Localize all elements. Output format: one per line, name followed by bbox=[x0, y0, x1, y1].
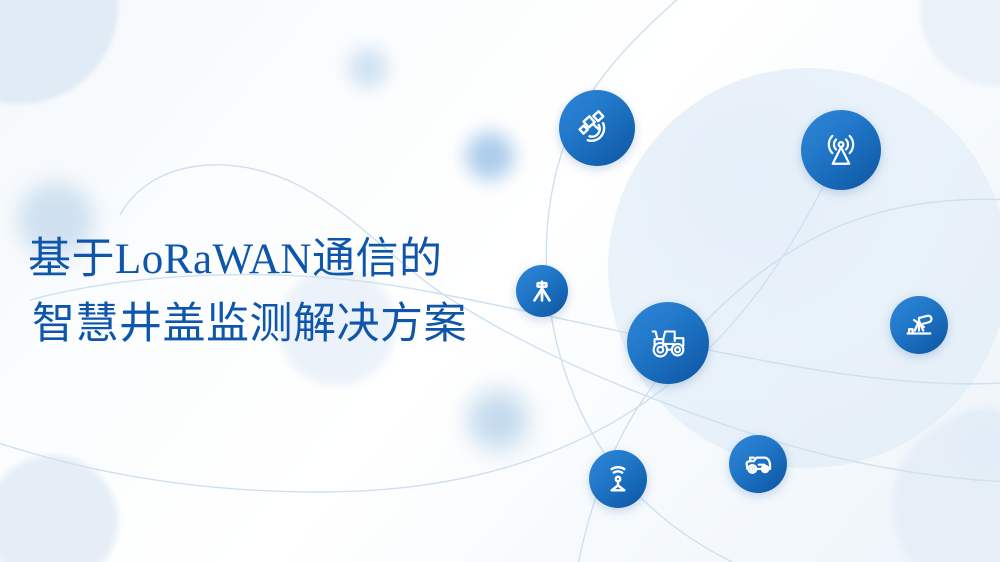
slide-canvas: 基于LoRaWAN通信的 智慧井盖监测解决方案 bbox=[0, 0, 1000, 562]
background-dot-a bbox=[348, 48, 388, 88]
node-mower[interactable] bbox=[729, 435, 787, 493]
title-line-primary: 基于LoRaWAN通信的 bbox=[28, 228, 548, 292]
node-survey-tripod[interactable] bbox=[516, 265, 568, 317]
tractor-icon bbox=[645, 320, 691, 366]
title-line-secondary: 智慧井盖监测解决方案 bbox=[28, 292, 548, 356]
satellite-signal-icon bbox=[576, 107, 618, 149]
background-blob-top-left bbox=[0, 0, 118, 104]
robot-mower-icon bbox=[741, 447, 775, 481]
oil-pumpjack-icon bbox=[902, 308, 936, 342]
node-ground-sensor[interactable] bbox=[589, 450, 647, 508]
node-antenna-tower[interactable] bbox=[801, 110, 881, 190]
background-blob-top-right bbox=[920, 0, 1000, 86]
slide-title: 基于LoRaWAN通信的 智慧井盖监测解决方案 bbox=[28, 228, 548, 356]
background-blob-bottom-right bbox=[892, 412, 1000, 562]
background-blob-bottom-left bbox=[0, 455, 118, 562]
background-dot-c bbox=[466, 132, 514, 180]
wireless-sensor-icon bbox=[601, 462, 635, 496]
node-oil-pump[interactable] bbox=[890, 296, 948, 354]
node-satellite[interactable] bbox=[559, 90, 635, 166]
background-dot-e bbox=[956, 420, 1000, 474]
translucent-globe bbox=[608, 68, 1000, 468]
survey-tripod-icon bbox=[527, 276, 557, 306]
node-tractor[interactable] bbox=[627, 302, 709, 384]
radio-tower-icon bbox=[819, 128, 863, 172]
background-dot-d bbox=[468, 390, 528, 450]
